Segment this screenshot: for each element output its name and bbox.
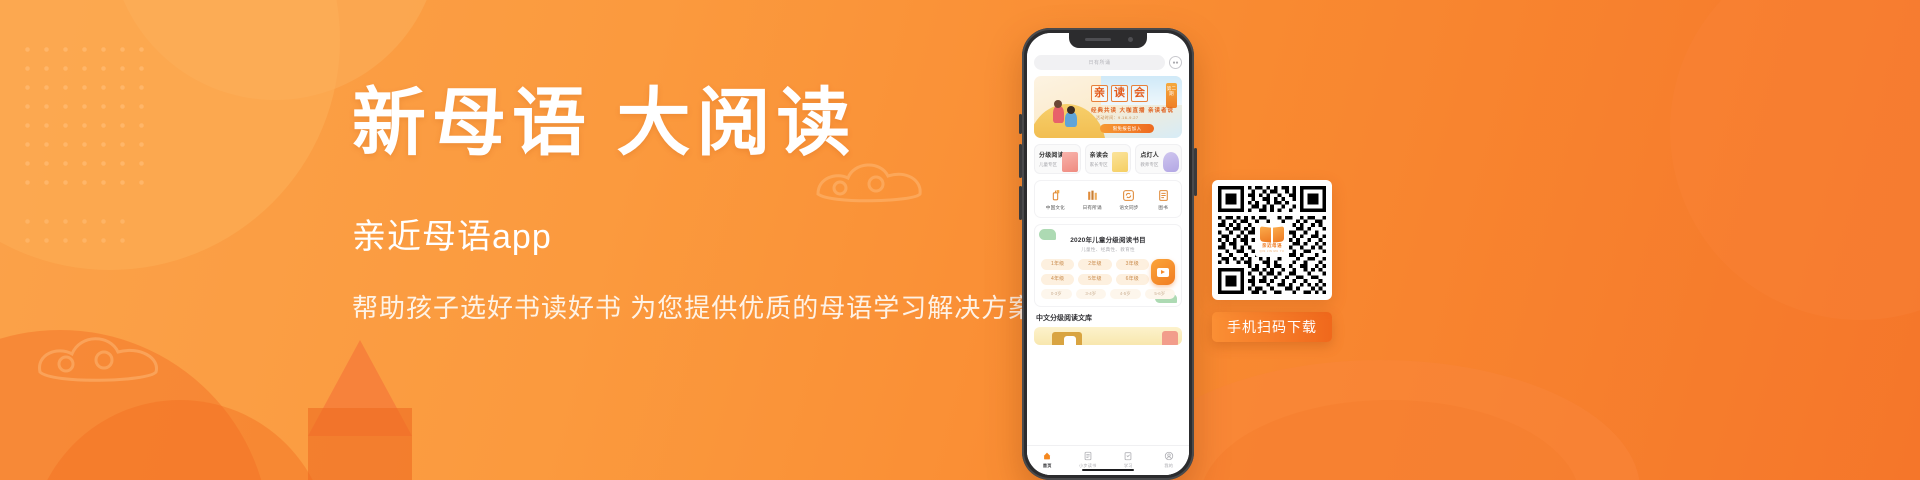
age-button[interactable]: 0-3岁	[1041, 289, 1072, 299]
category-tiles: 分级阅读 儿童专区 亲读会 家长专区 点灯人 教师专区	[1034, 144, 1182, 174]
phone-mockup: 日有所诵 ●● 亲 读 会 第二期	[1022, 28, 1194, 480]
decorative-triangle	[308, 340, 412, 436]
phone-volume-down-button	[1019, 186, 1022, 220]
promo-child-head-1	[1054, 100, 1062, 108]
search-input[interactable]: 日有所诵	[1034, 55, 1165, 70]
quick-entry-books[interactable]: 图书	[1156, 188, 1170, 211]
banner-copy: 新母语 大阅读 亲近母语app 帮助孩子选好书读好书 为您提供优质的母语学习解决…	[352, 86, 1012, 325]
qr-center-logo: 亲近母语 QIN JIN MU YU	[1255, 223, 1289, 257]
grade-button[interactable]: 6年级	[1116, 274, 1149, 285]
promo-title-char-3: 会	[1131, 85, 1148, 102]
quick-entry-label: 语文同步	[1119, 205, 1138, 211]
phone-power-button	[1194, 148, 1197, 196]
promo-dates: 活动时间：9.16-9.27	[1096, 115, 1139, 121]
shelf-book-3	[1162, 331, 1178, 345]
home-icon	[1042, 450, 1053, 461]
grade-button[interactable]: 2年级	[1078, 259, 1111, 270]
promo-features: 经典共读 大咖直播 亲读者说	[1091, 106, 1174, 114]
decorative-circle-bottom-left	[0, 330, 270, 480]
library-title: 中文分级阅读文库	[1036, 313, 1182, 323]
note-icon	[1112, 152, 1128, 172]
tab-profile[interactable]: 我的	[1149, 450, 1190, 469]
leaf-decoration-top	[1039, 229, 1056, 240]
booklist-card: 2020年儿童分级阅读书目 儿童性、经典性、教育性 1年级 2年级 3年级 4年…	[1034, 224, 1182, 307]
sync-icon	[1122, 188, 1136, 202]
book-logo-icon	[1260, 227, 1284, 242]
qr-card: 亲近母语 QIN JIN MU YU	[1212, 180, 1332, 300]
logo-subtitle: QIN JIN MU YU	[1260, 250, 1285, 253]
quick-entry-label: 日有所诵	[1083, 205, 1102, 211]
promo-ribbon-badge: 第二期	[1166, 83, 1177, 108]
culture-icon	[1048, 188, 1062, 202]
app-home-screen: 日有所诵 ●● 亲 读 会 第二期	[1027, 33, 1189, 475]
age-button[interactable]: 3-4岁	[1076, 289, 1107, 299]
app-search-row: 日有所诵 ●●	[1034, 55, 1182, 70]
booklist-title: 2020年儿童分级阅读书目	[1041, 234, 1175, 244]
grade-selector: 1年级 2年级 3年级 4年级 5年级 6年级 0-3岁 3-4岁 4-	[1041, 259, 1175, 299]
quick-entry-textbook-sync[interactable]: 语文同步	[1119, 188, 1138, 211]
decorative-circle-bottom-left-2	[30, 400, 330, 480]
logo-title: 亲近母语	[1262, 243, 1282, 249]
tab-home[interactable]: 首页	[1027, 450, 1068, 469]
promo-title-char-2: 读	[1111, 85, 1128, 102]
banner-headline: 新母语 大阅读	[352, 86, 1012, 163]
phone-screen: 日有所诵 ●● 亲 读 会 第二期	[1027, 33, 1189, 475]
quick-entry-label: 图书	[1158, 205, 1168, 211]
banner-tagline: 帮助孩子选好书读好书 为您提供优质的母语学习解决方案	[352, 288, 1012, 325]
dot-grid-pattern-2	[18, 212, 138, 250]
age-button[interactable]: 4-5岁	[1110, 289, 1141, 299]
decorative-circle-top-left	[0, 0, 340, 270]
library-shelf[interactable]	[1034, 327, 1182, 345]
qr-code-image[interactable]: 亲近母语 QIN JIN MU YU	[1218, 186, 1326, 294]
tab-reading[interactable]: 小步读书	[1068, 450, 1109, 469]
booklist-subtitle: 儿童性、经典性、教育性	[1041, 247, 1175, 253]
grade-button[interactable]: 4年级	[1041, 274, 1074, 285]
promo-child-figure-2	[1065, 112, 1077, 127]
grade-button[interactable]: 5年级	[1078, 274, 1111, 285]
promo-child-head-2	[1067, 106, 1075, 114]
grade-button[interactable]: 3年级	[1116, 259, 1149, 270]
cloud-motif-left	[30, 320, 170, 390]
tile-teacher-zone[interactable]: 点灯人 教师专区	[1135, 144, 1182, 174]
phone-notch	[1069, 33, 1147, 48]
promo-title: 亲 读 会	[1091, 85, 1148, 102]
quick-entry-daily-recitation[interactable]: 日有所诵	[1083, 188, 1102, 211]
decorative-circle-right	[1670, 0, 1920, 320]
quick-entry-label: 中国文化	[1046, 205, 1065, 211]
play-video-icon[interactable]	[1151, 259, 1175, 285]
decorative-ellipse-phone-base-2	[1200, 400, 1580, 480]
grade-button[interactable]: 1年级	[1041, 259, 1074, 270]
qr-download-block: 亲近母语 QIN JIN MU YU 手机扫码下载	[1212, 180, 1332, 342]
home-indicator	[1082, 469, 1134, 472]
app-promo-card[interactable]: 亲 读 会 第二期 经典共读 大咖直播 亲读者说 活动时间：9.16-9.27 …	[1034, 76, 1182, 138]
quick-entry-row: 中国文化 日有所诵 语文同步	[1034, 180, 1182, 218]
bookmark-icon	[1062, 152, 1078, 172]
tile-parent-club[interactable]: 亲读会 家长专区	[1085, 144, 1132, 174]
tab-label: 首页	[1043, 463, 1052, 469]
book-icon	[1156, 188, 1170, 202]
tab-label: 我的	[1164, 463, 1173, 469]
reading-icon	[1082, 450, 1093, 461]
banner-subtitle: 亲近母语app	[352, 209, 1012, 258]
decorative-square	[308, 408, 412, 480]
chat-icon[interactable]: ●●	[1169, 56, 1182, 69]
age-row: 0-3岁 3-4岁 4-5岁 5-6岁	[1041, 289, 1175, 299]
promo-title-char-1: 亲	[1091, 85, 1108, 102]
profile-icon	[1163, 450, 1174, 461]
promo-join-button[interactable]: 限免报名加入	[1100, 124, 1154, 133]
dot-grid-pattern	[18, 40, 158, 190]
tile-graded-reading[interactable]: 分级阅读 儿童专区	[1034, 144, 1081, 174]
tab-study[interactable]: 学习	[1108, 450, 1149, 469]
study-icon	[1123, 450, 1134, 461]
person-icon	[1163, 152, 1179, 172]
books-icon	[1085, 188, 1099, 202]
quick-entry-chinese-culture[interactable]: 中国文化	[1046, 188, 1065, 211]
phone-volume-up-button	[1019, 144, 1022, 178]
promo-banner: 新母语 大阅读 亲近母语app 帮助孩子选好书读好书 为您提供优质的母语学习解决…	[0, 0, 1920, 480]
shelf-book-2	[1064, 336, 1076, 345]
phone-mute-switch	[1019, 114, 1022, 134]
age-button[interactable]: 5-6岁	[1145, 289, 1176, 299]
promo-child-figure-1	[1053, 106, 1064, 123]
decorative-ellipse-phone-base	[1120, 360, 1640, 480]
download-button[interactable]: 手机扫码下载	[1212, 312, 1332, 342]
